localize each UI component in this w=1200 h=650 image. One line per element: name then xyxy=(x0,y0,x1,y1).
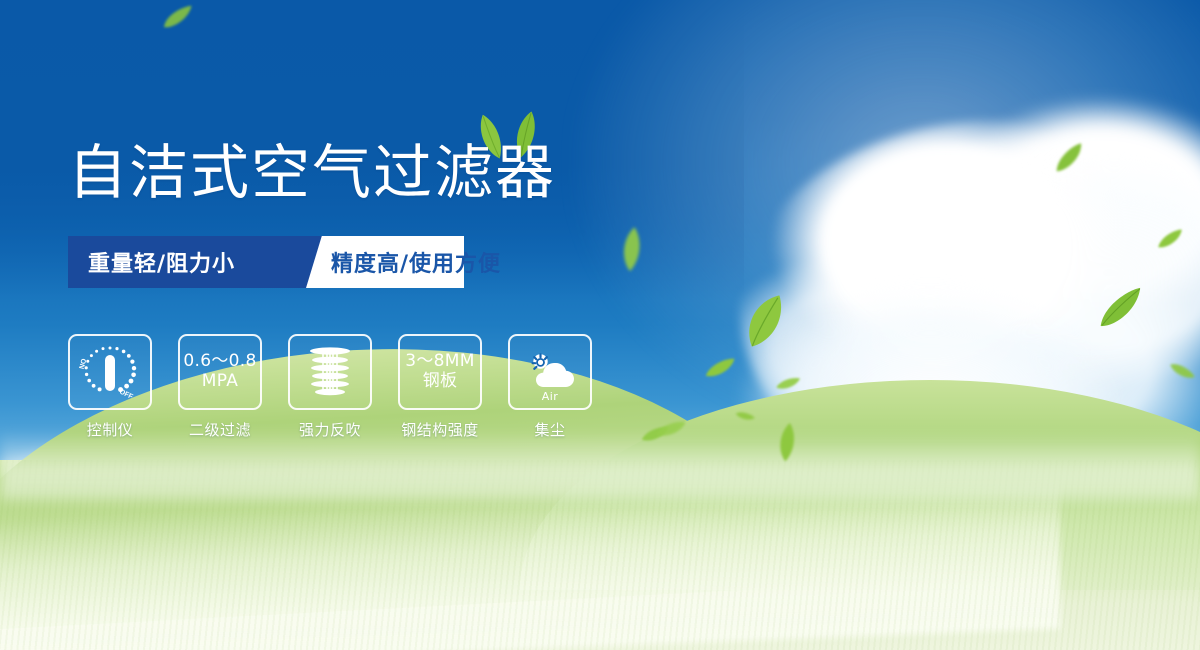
steel-material: 钢板 xyxy=(405,372,474,392)
air-caption: Air xyxy=(510,390,590,403)
feature-icon-box: NO OFF xyxy=(68,334,152,410)
pressure-text-icon: 0.6～0.8 MPA xyxy=(183,352,256,391)
subtitle-left-text: 重量轻/阻力小 xyxy=(88,236,235,288)
feature-label: 二级过滤 xyxy=(189,419,251,440)
banner-content: 自洁式空气过滤器 重量轻/阻力小 精度高/使用方便 xyxy=(0,0,1200,650)
feature-item-reverse-blow[interactable]: 强力反吹 xyxy=(288,334,372,440)
steel-thickness: 3～8MM xyxy=(405,351,474,371)
pressure-range: 0.6～0.8 xyxy=(183,351,256,371)
feature-item-dust-collection[interactable]: Air 集尘 xyxy=(508,334,592,440)
feature-icon-box xyxy=(288,334,372,410)
product-banner: 自洁式空气过滤器 重量轻/阻力小 精度高/使用方便 xyxy=(0,0,1200,650)
feature-label: 集尘 xyxy=(534,419,565,440)
feature-icon-box: Air xyxy=(508,334,592,410)
feature-list: NO OFF 控制仪 0.6～0.8 MPA 二级过滤 xyxy=(68,334,592,440)
feature-label: 强力反吹 xyxy=(299,419,361,440)
feature-label: 控制仪 xyxy=(87,419,134,440)
cloud-sun-air-icon xyxy=(520,347,580,391)
steel-plate-text-icon: 3～8MM 钢板 xyxy=(405,352,474,391)
feature-item-control-instrument[interactable]: NO OFF 控制仪 xyxy=(68,334,152,440)
feature-icon-box: 3～8MM 钢板 xyxy=(398,334,482,410)
feature-item-steel-structure[interactable]: 3～8MM 钢板 钢结构强度 xyxy=(398,334,482,440)
subtitle-bar: 重量轻/阻力小 精度高/使用方便 xyxy=(68,236,464,288)
subtitle-right-text: 精度高/使用方便 xyxy=(331,236,501,288)
feature-icon-box: 0.6～0.8 MPA xyxy=(178,334,262,410)
filter-cartridge-icon xyxy=(303,343,357,401)
feature-label: 钢结构强度 xyxy=(401,419,479,440)
page-title: 自洁式空气过滤器 xyxy=(68,143,556,202)
gauge-icon: NO OFF xyxy=(79,343,141,401)
svg-text:OFF: OFF xyxy=(118,389,134,401)
pressure-unit: MPA xyxy=(183,372,256,392)
feature-item-two-stage-filter[interactable]: 0.6～0.8 MPA 二级过滤 xyxy=(178,334,262,440)
